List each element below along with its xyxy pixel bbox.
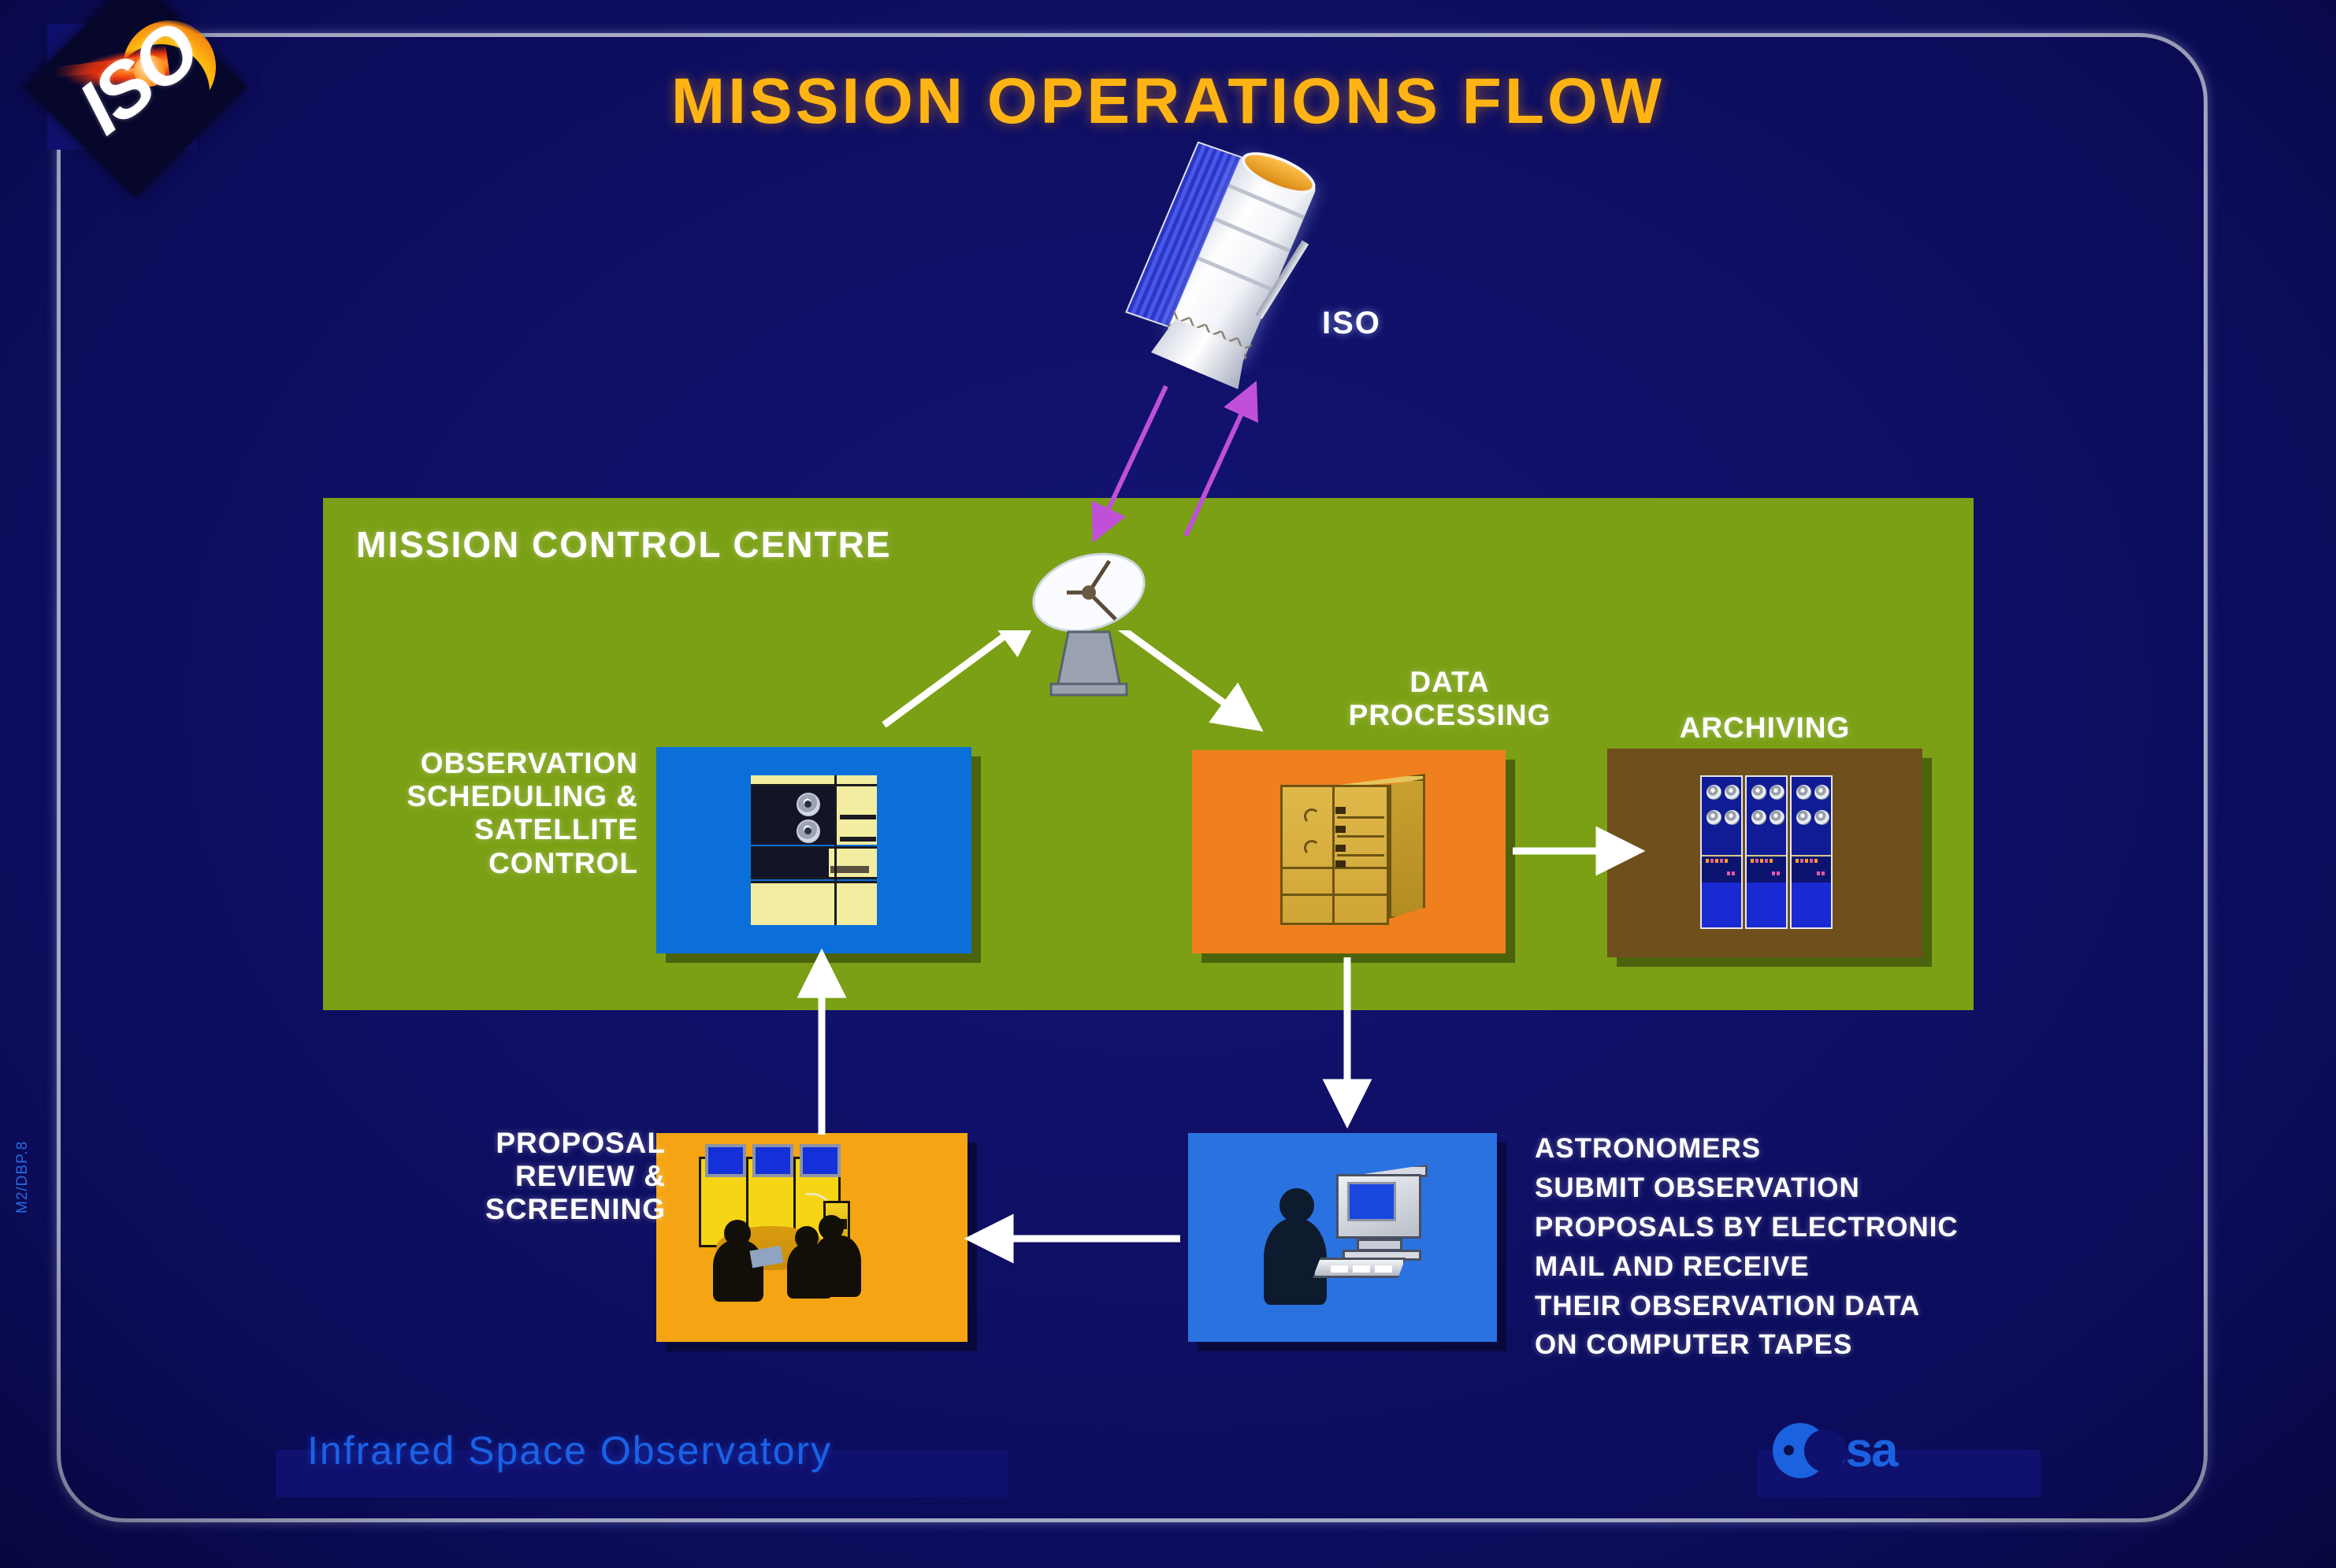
- arrow-dish-to-dataprocessing: [1111, 630, 1254, 725]
- page-title: MISSION OPERATIONS FLOW: [0, 65, 2336, 139]
- footer-title: Infrared Space Observatory: [307, 1428, 832, 1473]
- iso-satellite-icon: [1127, 143, 1331, 403]
- esa-globe-icon: [1773, 1423, 1828, 1478]
- esa-logo: esa: [1773, 1423, 1896, 1478]
- slide-canvas: ISO MISSION OPERATIONS FLOW ISO MISSION …: [0, 0, 2336, 1568]
- flow-arrows: [315, 630, 2009, 1497]
- satellite-label: ISO: [1322, 306, 1381, 341]
- iso-logo-wordmark: ISO: [36, 0, 240, 176]
- iso-logo: ISO: [28, 0, 243, 194]
- downlink-arrow: [1097, 386, 1166, 534]
- mission-control-centre-title: MISSION CONTROL CENTRE: [356, 523, 892, 566]
- arrow-scheduling-to-dish: [884, 630, 1034, 725]
- slide-reference-code: M2/DBP.8: [14, 1141, 32, 1213]
